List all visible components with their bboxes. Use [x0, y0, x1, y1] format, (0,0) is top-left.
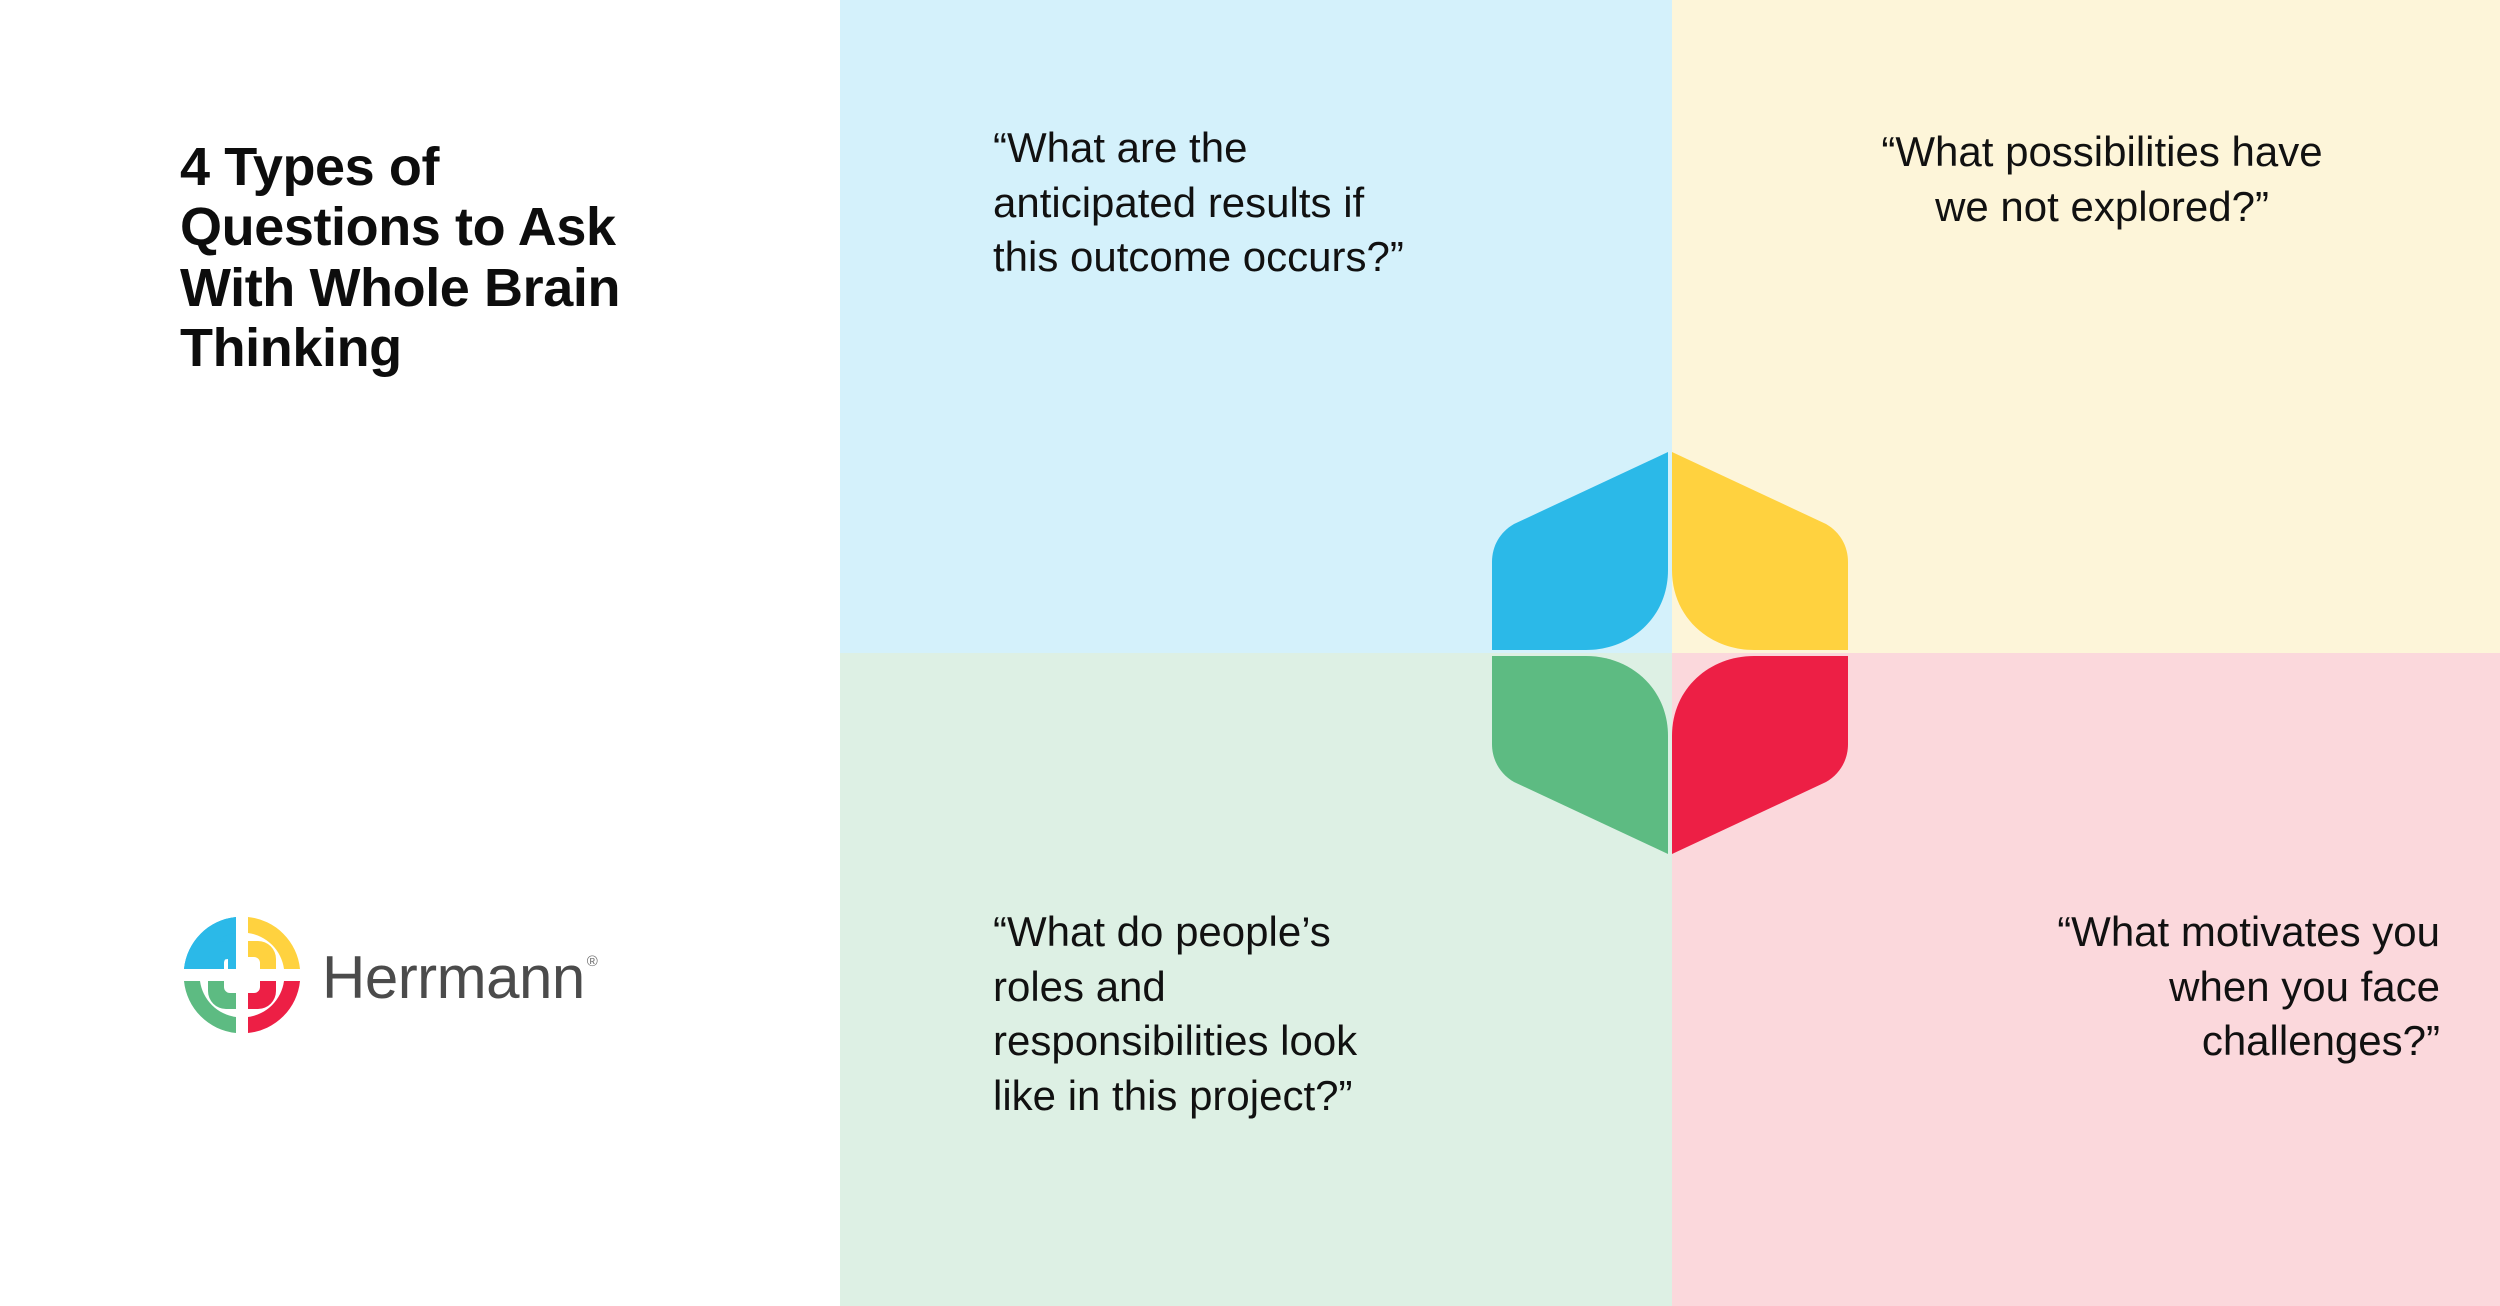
herrmann-logo: Herrmann ® [178, 911, 598, 1039]
quadrant-lower-right: “What motivates you when you face challe… [1672, 653, 2500, 1306]
quadrant-upper-left-quote: “What are the anticipated results if thi… [993, 121, 1413, 285]
infographic-page: 4 Types of Questions to Ask With Whole B… [0, 0, 2500, 1306]
logo-wordmark: Herrmann [322, 948, 585, 1008]
quadrant-grid: “What are the anticipated results if thi… [840, 0, 2500, 1306]
quadrant-lower-left-quote: “What do people’s roles and responsibili… [993, 905, 1443, 1123]
quadrant-upper-right: “What possibilities have we not explored… [1672, 0, 2500, 653]
herrmann-wheel-icon [178, 911, 306, 1039]
registered-trademark-icon: ® [587, 954, 598, 969]
quadrant-upper-right-quote: “What possibilities have we not explored… [1732, 125, 2472, 234]
quadrant-upper-left: “What are the anticipated results if thi… [840, 0, 1672, 653]
quadrant-lower-right-quote: “What motivates you when you face challe… [1700, 905, 2440, 1069]
left-panel: 4 Types of Questions to Ask With Whole B… [0, 0, 840, 1306]
logo-wordmark-wrap: Herrmann ® [322, 948, 598, 1008]
quadrant-lower-left: “What do people’s roles and responsibili… [840, 653, 1672, 1306]
page-title: 4 Types of Questions to Ask With Whole B… [180, 137, 800, 379]
